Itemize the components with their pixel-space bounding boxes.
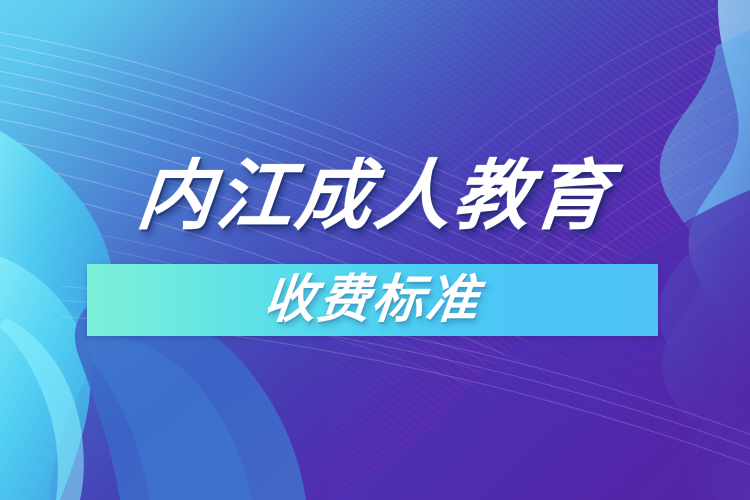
- banner-background: [0, 0, 750, 500]
- subtitle-banner: 收费标准: [87, 264, 658, 336]
- background-artwork: [0, 0, 750, 500]
- blue-line-texture: [0, 0, 470, 500]
- subtitle-text: 收费标准: [262, 274, 483, 326]
- promo-banner: 内江成人教育 收费标准: [0, 0, 750, 500]
